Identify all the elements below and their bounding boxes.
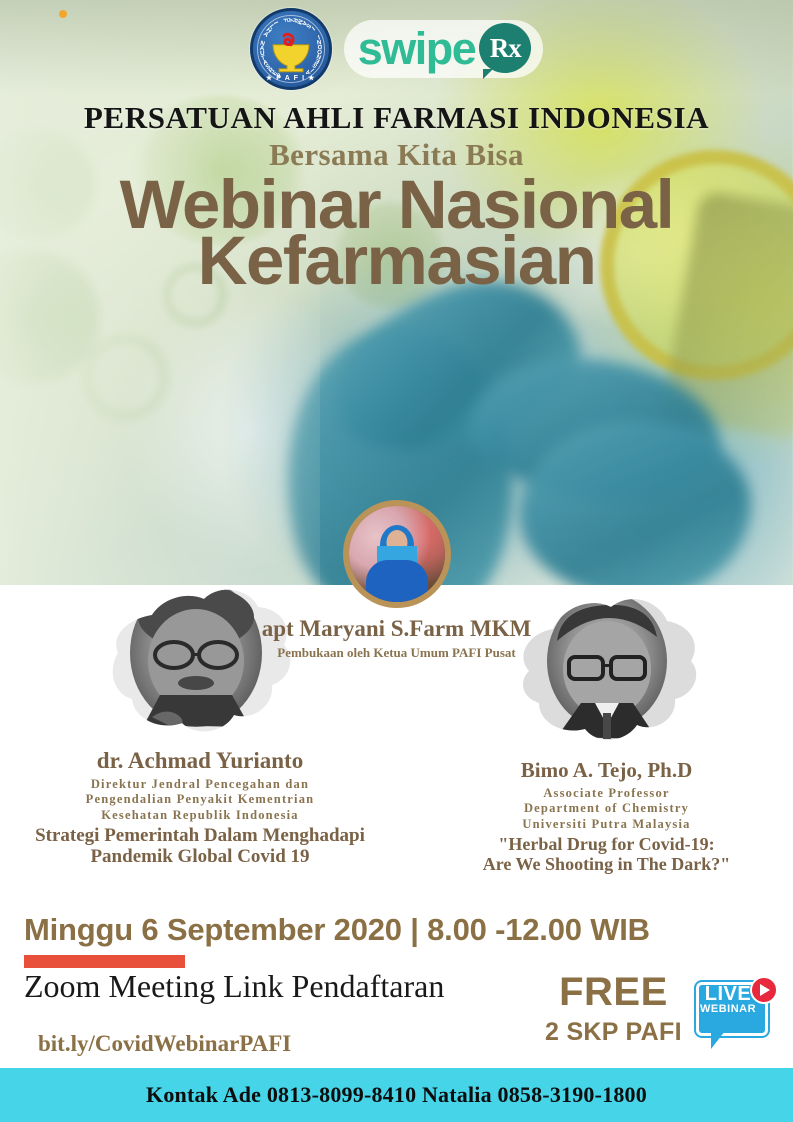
rx-label: Rx <box>490 35 521 62</box>
center-speaker-avatar <box>343 500 451 608</box>
logo-row: PERSATUAN AHLI FARMASI INDONESIA ★ P A F… <box>0 6 793 92</box>
right-speaker-affiliation-line2: Department of Chemistry <box>420 801 793 816</box>
center-speaker-role: Pembukaan oleh Ketua Umum PAFI Pusat <box>0 645 793 661</box>
swiperx-logo: swipe Rx <box>344 20 544 78</box>
price-label: FREE <box>545 972 682 1012</box>
play-button-icon <box>750 976 778 1004</box>
right-speaker-topic-line1: "Herbal Drug for Covid-19: <box>420 835 793 855</box>
left-speaker-name: dr. Achmad Yurianto <box>0 748 400 774</box>
right-speaker-affiliation: Associate Professor Department of Chemis… <box>420 786 793 832</box>
right-speaker-topic-line2: Are We Shooting in The Dark?" <box>420 855 793 875</box>
left-speaker-topic-line2: Pandemik Global Covid 19 <box>0 847 400 868</box>
left-speaker-topic-line1: Strategi Pemerintah Dalam Menghadapi <box>0 826 400 847</box>
registration-label: Zoom Meeting Link Pendaftaran <box>24 968 444 1005</box>
event-dateline: Minggu 6 September 2020 | 8.00 -12.00 WI… <box>24 912 650 948</box>
live-webinar-badge: LIVE WEBINAR <box>692 976 778 1052</box>
red-accent-bar <box>24 955 185 968</box>
swiperx-wordmark: swipe <box>358 26 476 71</box>
right-speaker-affiliation-line3: Universiti Putra Malaysia <box>420 817 793 832</box>
right-speaker-name: Bimo A. Tejo, Ph.D <box>420 758 793 783</box>
contact-footer: Kontak Ade 0813-8099-8410 Natalia 0858-3… <box>0 1068 793 1122</box>
pafi-logo-bottom-text: ★ P A F I ★ <box>253 74 329 82</box>
organization-name: PERSATUAN AHLI FARMASI INDONESIA <box>0 100 793 136</box>
left-speaker-affiliation: Direktur Jendral Pencegahan dan Pengenda… <box>0 777 400 823</box>
center-speaker-name: apt Maryani S.Farm MKM <box>0 616 793 642</box>
price-block: FREE 2 SKP PAFI <box>545 972 682 1049</box>
avatar-body <box>366 560 428 602</box>
contact-text: Kontak Ade 0813-8099-8410 Natalia 0858-3… <box>146 1082 647 1108</box>
live-badge-line2: WEBINAR <box>692 1004 764 1015</box>
pafi-logo-icon: PERSATUAN AHLI FARMASI INDONESIA ★ P A F… <box>250 8 332 90</box>
right-speaker-affiliation-line1: Associate Professor <box>420 786 793 801</box>
registration-link[interactable]: bit.ly/CovidWebinarPAFI <box>38 1031 291 1057</box>
right-speaker-topic: "Herbal Drug for Covid-19: Are We Shooti… <box>420 835 793 875</box>
center-speaker: apt Maryani S.Farm MKM Pembukaan oleh Ke… <box>0 500 793 661</box>
poster-title-line2: Kefarmasian <box>0 226 793 295</box>
swiperx-dot-icon <box>59 10 67 18</box>
left-speaker-affiliation-line1: Direktur Jendral Pencegahan dan <box>0 777 400 792</box>
left-speaker-affiliation-line2: Pengendalian Penyakit Kementrian <box>0 792 400 807</box>
rx-speech-bubble-icon: Rx <box>479 23 531 73</box>
credits-label: 2 SKP PAFI <box>545 1016 682 1049</box>
pharmacy-bowl-snake-icon <box>267 29 315 73</box>
webinar-poster: PERSATUAN AHLI FARMASI INDONESIA ★ P A F… <box>0 0 793 1122</box>
left-speaker-affiliation-line3: Kesehatan Republik Indonesia <box>0 808 400 823</box>
left-speaker-topic: Strategi Pemerintah Dalam Menghadapi Pan… <box>0 826 400 868</box>
